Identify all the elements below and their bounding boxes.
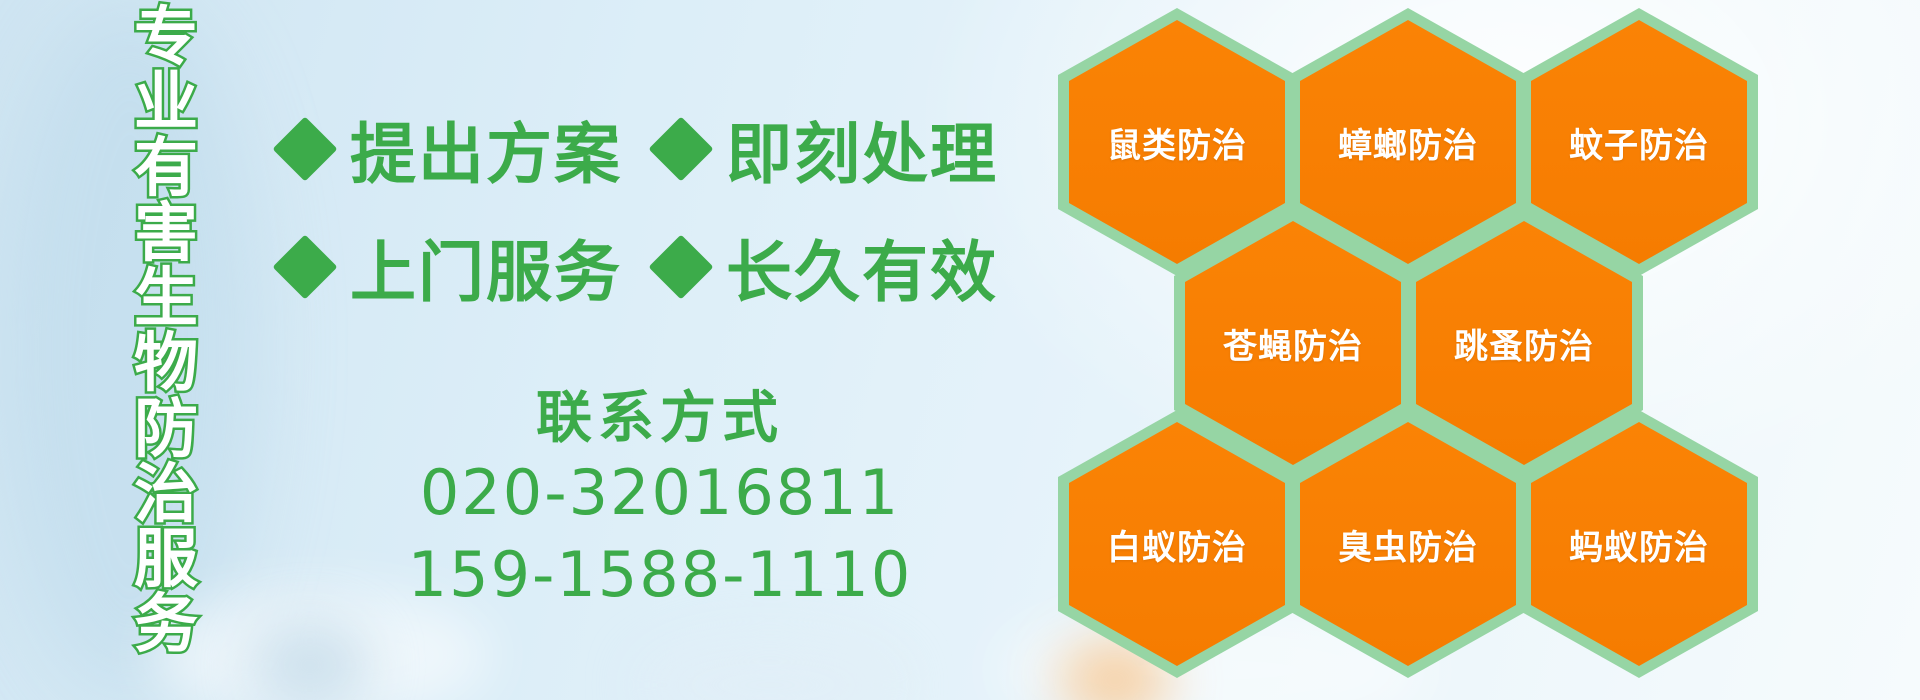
hexagon-shape: 臭虫防治 — [1289, 410, 1527, 678]
feature-row: 提出方案 即刻处理 — [282, 90, 998, 208]
vertical-title-char: 业 — [134, 71, 198, 136]
vertical-title-char: 害 — [134, 202, 198, 267]
diamond-icon — [272, 234, 337, 299]
feature-item: 上门服务 — [282, 219, 622, 315]
feature-list: 提出方案 即刻处理 上门服务 长久有效 — [282, 90, 998, 326]
feature-label: 提出方案 — [350, 101, 622, 197]
vertical-title-char: 治 — [134, 463, 198, 528]
diamond-icon — [272, 116, 337, 181]
contact-phone-landline[interactable]: 020-32016811 — [360, 452, 960, 534]
service-label: 跳蚤防治 — [1454, 319, 1594, 368]
service-label: 蚂蚁防治 — [1569, 520, 1709, 569]
service-label: 苍蝇防治 — [1223, 319, 1363, 368]
background-bokeh-2 — [250, 620, 370, 700]
vertical-title-char: 有 — [134, 137, 198, 202]
feature-label: 长久有效 — [726, 219, 998, 315]
feature-label: 上门服务 — [350, 219, 622, 315]
contact-block: 联系方式 020-32016811 159-1588-1110 — [360, 386, 960, 616]
diamond-icon — [648, 116, 713, 181]
service-label: 臭虫防治 — [1338, 520, 1478, 569]
service-label: 蚊子防治 — [1569, 118, 1709, 167]
vertical-title-char: 物 — [134, 332, 198, 397]
vertical-title-char: 专 — [134, 6, 198, 71]
vertical-title-char: 防 — [134, 398, 198, 463]
background-bokeh-3 — [640, 640, 900, 700]
service-hex-termite[interactable]: 白蚁防治 — [1058, 410, 1296, 678]
service-label: 鼠类防治 — [1107, 118, 1247, 167]
feature-row: 上门服务 长久有效 — [282, 208, 998, 326]
feature-label: 即刻处理 — [726, 101, 998, 197]
contact-phone-mobile[interactable]: 159-1588-1110 — [360, 534, 960, 616]
vertical-title: 专 业 有 害 生 物 防 治 服 务 — [118, 6, 214, 659]
service-hex-bedbug[interactable]: 臭虫防治 — [1289, 410, 1527, 678]
vertical-title-char: 务 — [134, 593, 198, 658]
hexagon-shape: 蚂蚁防治 — [1520, 410, 1758, 678]
contact-label: 联系方式 — [360, 386, 960, 452]
pest-control-banner: 专 业 有 害 生 物 防 治 服 务 提出方案 即刻处理 上门服务 — [0, 0, 1920, 700]
service-hex-ant[interactable]: 蚂蚁防治 — [1520, 410, 1758, 678]
vertical-title-char: 服 — [134, 528, 198, 593]
service-label: 白蚁防治 — [1107, 520, 1247, 569]
feature-item: 即刻处理 — [658, 101, 998, 197]
diamond-icon — [648, 234, 713, 299]
service-honeycomb: 鼠类防治 蟑螂防治 蚊子防治 苍蝇防治 跳蚤防治 — [1058, 0, 1818, 700]
feature-item: 提出方案 — [282, 101, 622, 197]
service-label: 蟑螂防治 — [1338, 118, 1478, 167]
vertical-title-char: 生 — [134, 267, 198, 332]
feature-item: 长久有效 — [658, 219, 998, 315]
hexagon-shape: 白蚁防治 — [1058, 410, 1296, 678]
